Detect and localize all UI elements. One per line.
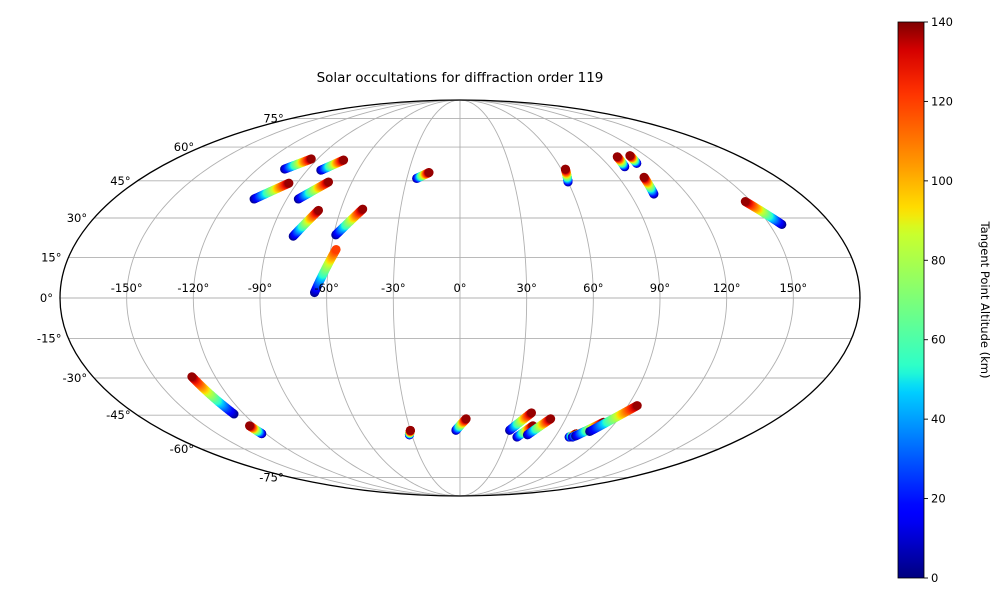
mollweide-occultation-map: -75°-60°-45°-30°-15°0°15°30°45°60°75° -1… bbox=[0, 0, 1000, 600]
track-point bbox=[339, 156, 348, 165]
occultation-tracks bbox=[187, 151, 786, 441]
track-point bbox=[613, 152, 622, 161]
longitude-tick-label: 30° bbox=[516, 281, 536, 295]
track-point bbox=[332, 245, 341, 254]
latitude-tick-label: -75° bbox=[259, 470, 284, 484]
colorbar-tick-label: 120 bbox=[931, 94, 953, 108]
graticule-gridlines bbox=[60, 100, 860, 496]
occultation-track bbox=[451, 414, 470, 435]
longitude-tick-label: -30° bbox=[381, 281, 406, 295]
longitude-tick-label: -90° bbox=[248, 281, 273, 295]
latitude-tick-label: 30° bbox=[67, 211, 87, 225]
longitude-tick-label: 60° bbox=[583, 281, 603, 295]
track-point bbox=[314, 206, 323, 215]
occultation-track bbox=[316, 156, 348, 175]
longitude-tick-label: -60° bbox=[314, 281, 339, 295]
colorbar-ticks: 020406080100120140 bbox=[924, 15, 953, 585]
track-point bbox=[245, 421, 254, 430]
colorbar-tick-label: 140 bbox=[931, 15, 953, 29]
colorbar-tick-label: 0 bbox=[931, 571, 938, 585]
occultation-track bbox=[289, 206, 323, 241]
colorbar-tick-label: 60 bbox=[931, 333, 946, 347]
longitude-tick-label: -120° bbox=[177, 281, 209, 295]
occultation-track bbox=[585, 401, 642, 436]
longitude-tick-label: 120° bbox=[713, 281, 741, 295]
occultation-track bbox=[187, 372, 238, 418]
occultation-track bbox=[245, 421, 266, 438]
track-point bbox=[307, 154, 316, 163]
track-point bbox=[324, 177, 333, 186]
track-point bbox=[625, 151, 634, 160]
occultation-track bbox=[405, 426, 415, 440]
track-point bbox=[633, 401, 642, 410]
occultation-track bbox=[294, 177, 333, 203]
latitude-tick-label: 45° bbox=[110, 174, 130, 188]
latitude-tick-label: -15° bbox=[37, 332, 62, 346]
track-point bbox=[284, 179, 293, 188]
figure-canvas: -75°-60°-45°-30°-15°0°15°30°45°60°75° -1… bbox=[0, 0, 1000, 600]
latitude-tick-label: -30° bbox=[63, 371, 88, 385]
colorbar-gradient bbox=[898, 22, 924, 578]
occultation-track bbox=[640, 173, 659, 199]
chart-title: Solar occultations for diffraction order… bbox=[317, 70, 604, 86]
track-point bbox=[406, 426, 415, 435]
latitude-tick-label: 0° bbox=[40, 291, 53, 305]
track-point bbox=[546, 414, 555, 423]
occultation-track bbox=[561, 165, 573, 187]
track-point bbox=[358, 205, 367, 214]
latitude-tick-label: -45° bbox=[106, 408, 131, 422]
track-point bbox=[187, 372, 196, 381]
track-point bbox=[741, 197, 750, 206]
longitude-tick-label: -150° bbox=[111, 281, 143, 295]
colorbar-tick-label: 100 bbox=[931, 174, 953, 188]
track-point bbox=[425, 168, 434, 177]
latitude-tick-label: 60° bbox=[174, 140, 194, 154]
colorbar-tick-label: 20 bbox=[931, 492, 946, 506]
latitude-tick-label: -60° bbox=[170, 442, 195, 456]
track-point bbox=[561, 165, 570, 174]
longitude-tick-labels: -150°-120°-90°-60°-30°0°30°60°90°120°150… bbox=[111, 281, 807, 295]
longitude-tick-label: 150° bbox=[779, 281, 807, 295]
occultation-track bbox=[741, 197, 787, 229]
latitude-tick-label: 75° bbox=[263, 112, 283, 126]
colorbar-axis-label: Tangent Point Altitude (km) bbox=[978, 221, 992, 379]
longitude-tick-label: 0° bbox=[453, 281, 466, 295]
colorbar-tick-label: 40 bbox=[931, 412, 946, 426]
track-point bbox=[640, 173, 649, 182]
track-point bbox=[527, 408, 536, 417]
longitude-tick-label: 90° bbox=[650, 281, 670, 295]
track-point bbox=[462, 414, 471, 423]
colorbar-tick-label: 80 bbox=[931, 253, 946, 267]
latitude-tick-label: 15° bbox=[41, 250, 61, 264]
occultation-track bbox=[280, 154, 316, 173]
